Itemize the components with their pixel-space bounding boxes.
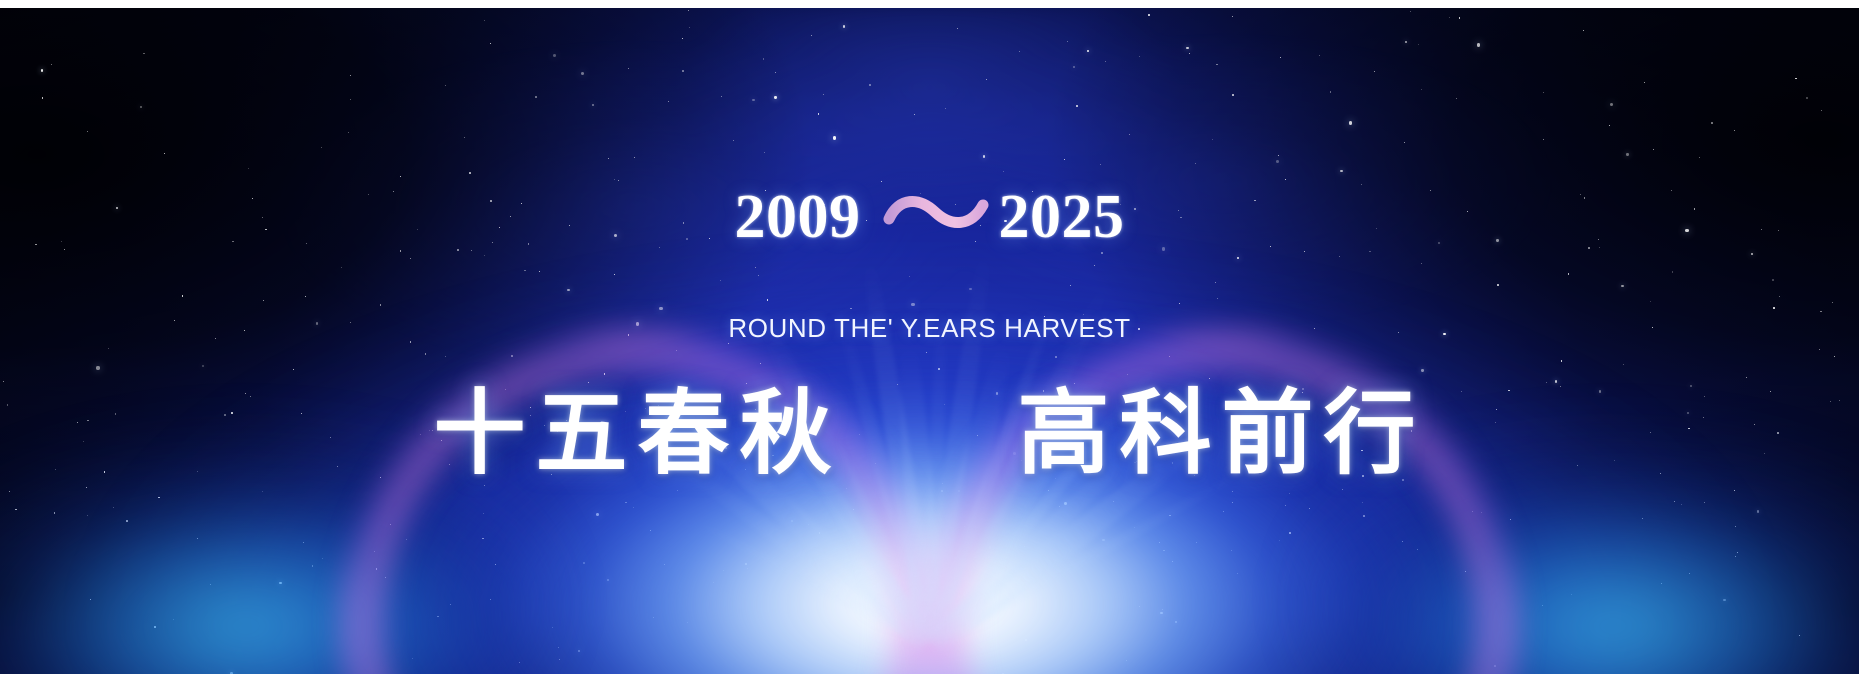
top-white-strip xyxy=(0,0,1859,8)
starfield xyxy=(0,8,1859,674)
light-rays xyxy=(180,204,1680,674)
pink-arc-left xyxy=(340,328,936,674)
nebula-glow xyxy=(0,8,1859,674)
cyan-wing-left xyxy=(0,394,550,674)
anniversary-banner: 2009 2025 ROUND THE' Y.EARS HA xyxy=(0,0,1859,680)
light-burst-halo xyxy=(90,264,1770,674)
cyan-wing-right xyxy=(1309,394,1859,674)
corner-vignette xyxy=(0,8,1859,674)
light-burst-core xyxy=(370,324,1490,674)
bottom-white-strip xyxy=(0,674,1859,680)
pink-arc-right xyxy=(923,328,1519,674)
night-sky-background xyxy=(0,8,1859,674)
